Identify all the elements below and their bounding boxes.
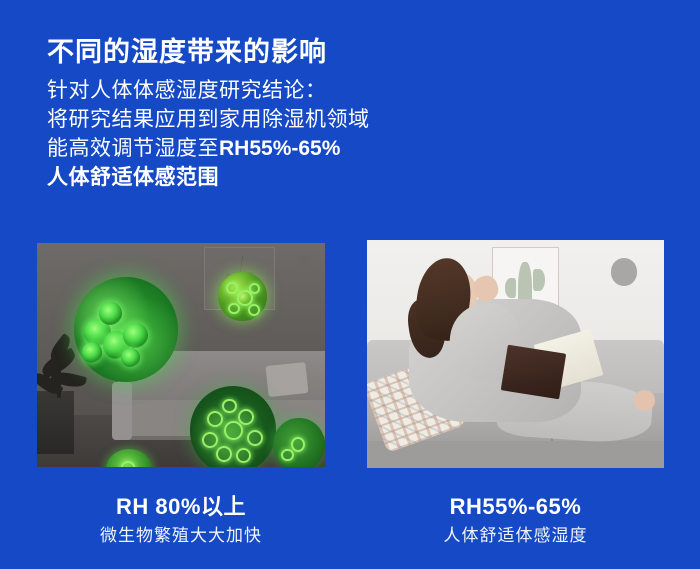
microbe-spike [224,421,243,440]
caption-left-title: RH 80%以上 [37,493,325,521]
panel-captions: RH 80%以上 微生物繁殖大大加快 RH55%-65% 人体舒适体感湿度 [0,493,700,569]
microbe-spike [238,409,254,425]
microbe-spike [248,304,260,316]
microbe-spike [236,448,251,463]
microbe-sphere-large [74,277,178,382]
photo-comfort-humidity [367,240,664,468]
wall-switch [299,256,311,267]
photo-high-humidity [37,243,325,467]
caption-right-title: RH55%-65% [367,493,664,521]
book-cover [500,345,566,399]
plant-stem [57,366,61,397]
caption-group-left: RH 80%以上 微生物繁殖大大加快 [37,493,325,548]
microbe-spike [222,399,236,413]
microbe-spike [281,449,293,462]
plant-pot [37,391,74,454]
microbe-spike [249,283,260,294]
microbe-spike [216,446,232,462]
microbe-spike [247,430,263,446]
microbe-sphere-side [273,418,325,467]
microbe-spike [226,282,238,294]
wall-speaker [611,258,638,285]
microbe-spike [121,461,135,467]
comparison-panels [0,0,700,569]
caption-left-subtitle: 微生物繁殖大大加快 [37,524,325,548]
person-foot [634,390,655,411]
humidity-comparison-poster: 不同的湿度带来的影响 针对人体体感湿度研究结论： 将研究结果应用到家用除湿机领域… [0,0,700,569]
caption-right-subtitle: 人体舒适体感湿度 [367,524,664,548]
sofa-cushion [266,362,309,397]
sofa-base [367,441,664,468]
microbe-sphere-bottom [190,386,276,467]
microbe-spike [207,411,223,427]
sofa-arm [112,382,132,440]
microbe-spike [228,303,239,314]
microbe-cell [82,342,103,363]
microbe-spike [202,432,218,448]
microbe-cell [121,348,140,367]
microbe-cell [123,323,148,348]
caption-group-right: RH55%-65% 人体舒适体感湿度 [367,493,664,548]
microbe-cell [99,302,122,325]
microbe-spike [291,437,305,452]
